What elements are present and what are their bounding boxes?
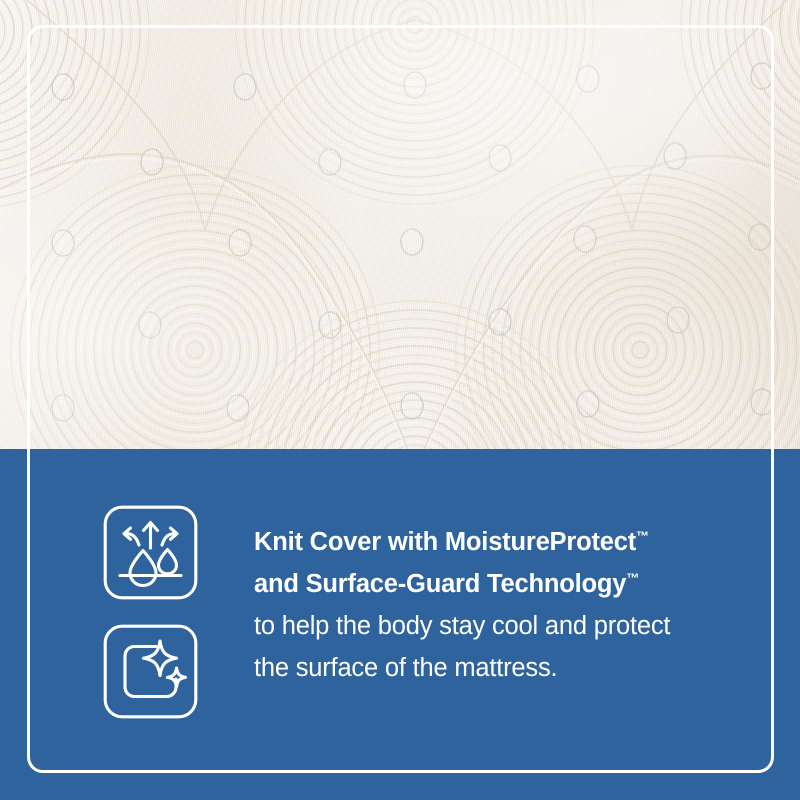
trademark-symbol-1: ™: [636, 529, 649, 544]
feature-body-line-2: the surface of the mattress.: [254, 647, 774, 689]
feature-body-line-1: to help the body stay cool and protect: [254, 605, 774, 647]
mattress-fabric-image: [0, 0, 800, 449]
feature-text-column: Knit Cover with MoistureProtect™ and Sur…: [254, 521, 774, 689]
feature-icon-column: [103, 505, 199, 719]
headline-text-1: Knit Cover with MoistureProtect: [254, 528, 636, 556]
feature-headline-line-1: Knit Cover with MoistureProtect™: [254, 521, 774, 563]
headline-text-2: and Surface-Guard Technology: [254, 570, 626, 598]
trademark-symbol-2: ™: [626, 571, 639, 586]
feature-headline-line-2: and Surface-Guard Technology™: [254, 563, 774, 605]
quilt-stitch-pattern: [0, 0, 800, 449]
moisture-wicking-icon: [103, 505, 198, 600]
feature-content: Knit Cover with MoistureProtect™ and Sur…: [0, 449, 800, 800]
surface-guard-sparkle-icon: [103, 624, 198, 719]
product-feature-card: Knit Cover with MoistureProtect™ and Sur…: [0, 0, 800, 800]
